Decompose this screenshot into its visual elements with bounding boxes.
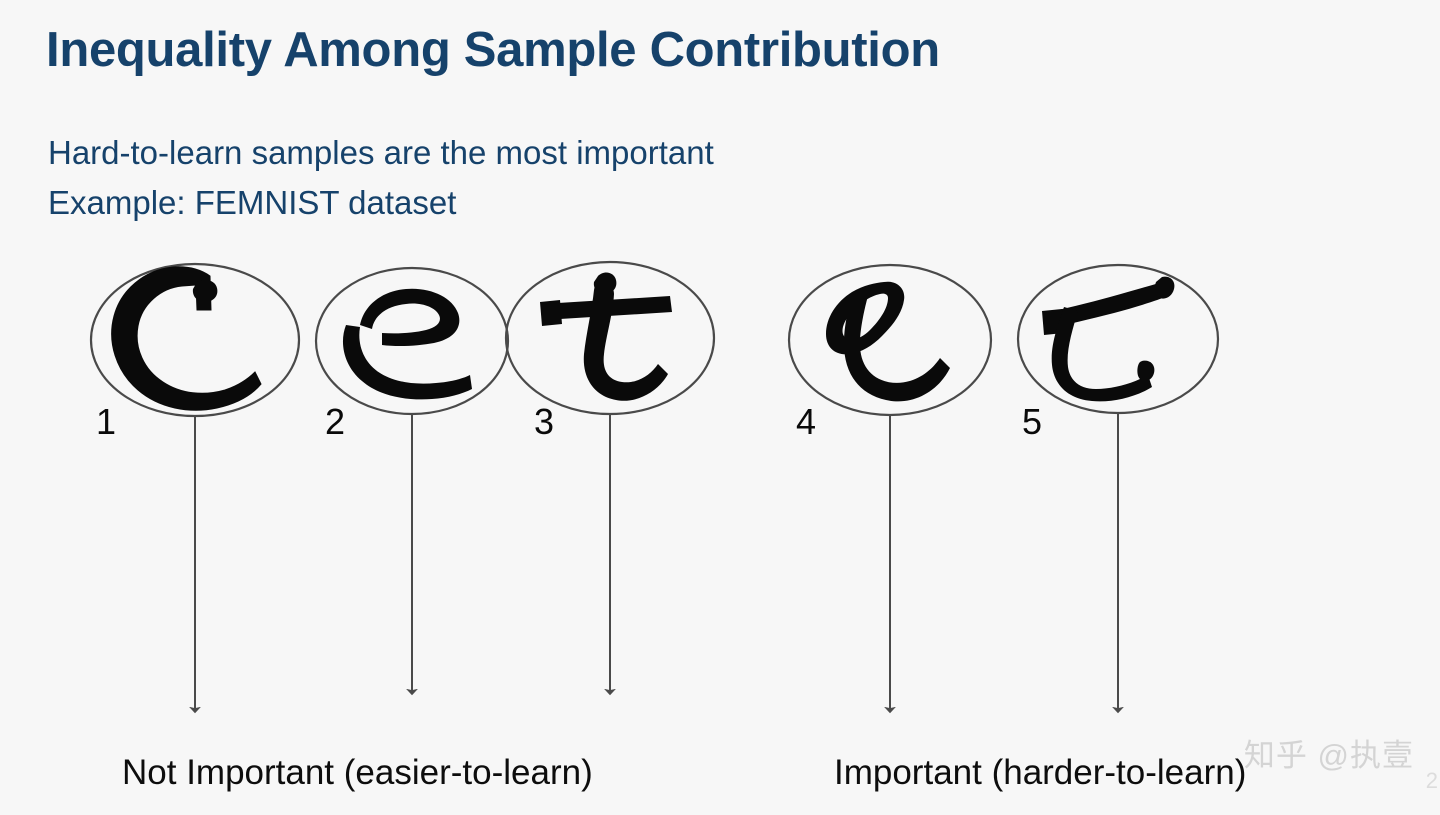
sample-group-4 <box>789 265 991 415</box>
handwriting-glyph-e <box>343 289 472 400</box>
sample-number-2: 2 <box>325 404 345 440</box>
sample-group-3 <box>506 262 714 414</box>
samples-figure: 1 2 3 4 5 <box>0 0 1440 815</box>
handwriting-glyph-t-3 <box>540 273 672 401</box>
sample-group-2 <box>316 268 508 414</box>
handwriting-glyph-t-4 <box>826 282 950 402</box>
caption-not-important: Not Important (easier-to-learn) <box>122 755 593 790</box>
sample-number-5: 5 <box>1022 404 1042 440</box>
sample-number-3: 3 <box>534 404 554 440</box>
sample-number-1: 1 <box>96 404 116 440</box>
caption-important: Important (harder-to-learn) <box>834 755 1246 790</box>
figure-canvas <box>0 0 1440 815</box>
presentation-slide: Inequality Among Sample Contribution Har… <box>0 0 1440 815</box>
handwriting-glyph-t-5 <box>1042 277 1174 402</box>
sample-group-1 <box>91 264 299 416</box>
sample-group-5 <box>1018 265 1218 413</box>
sample-number-4: 4 <box>796 404 816 440</box>
handwriting-glyph-c <box>112 267 261 410</box>
